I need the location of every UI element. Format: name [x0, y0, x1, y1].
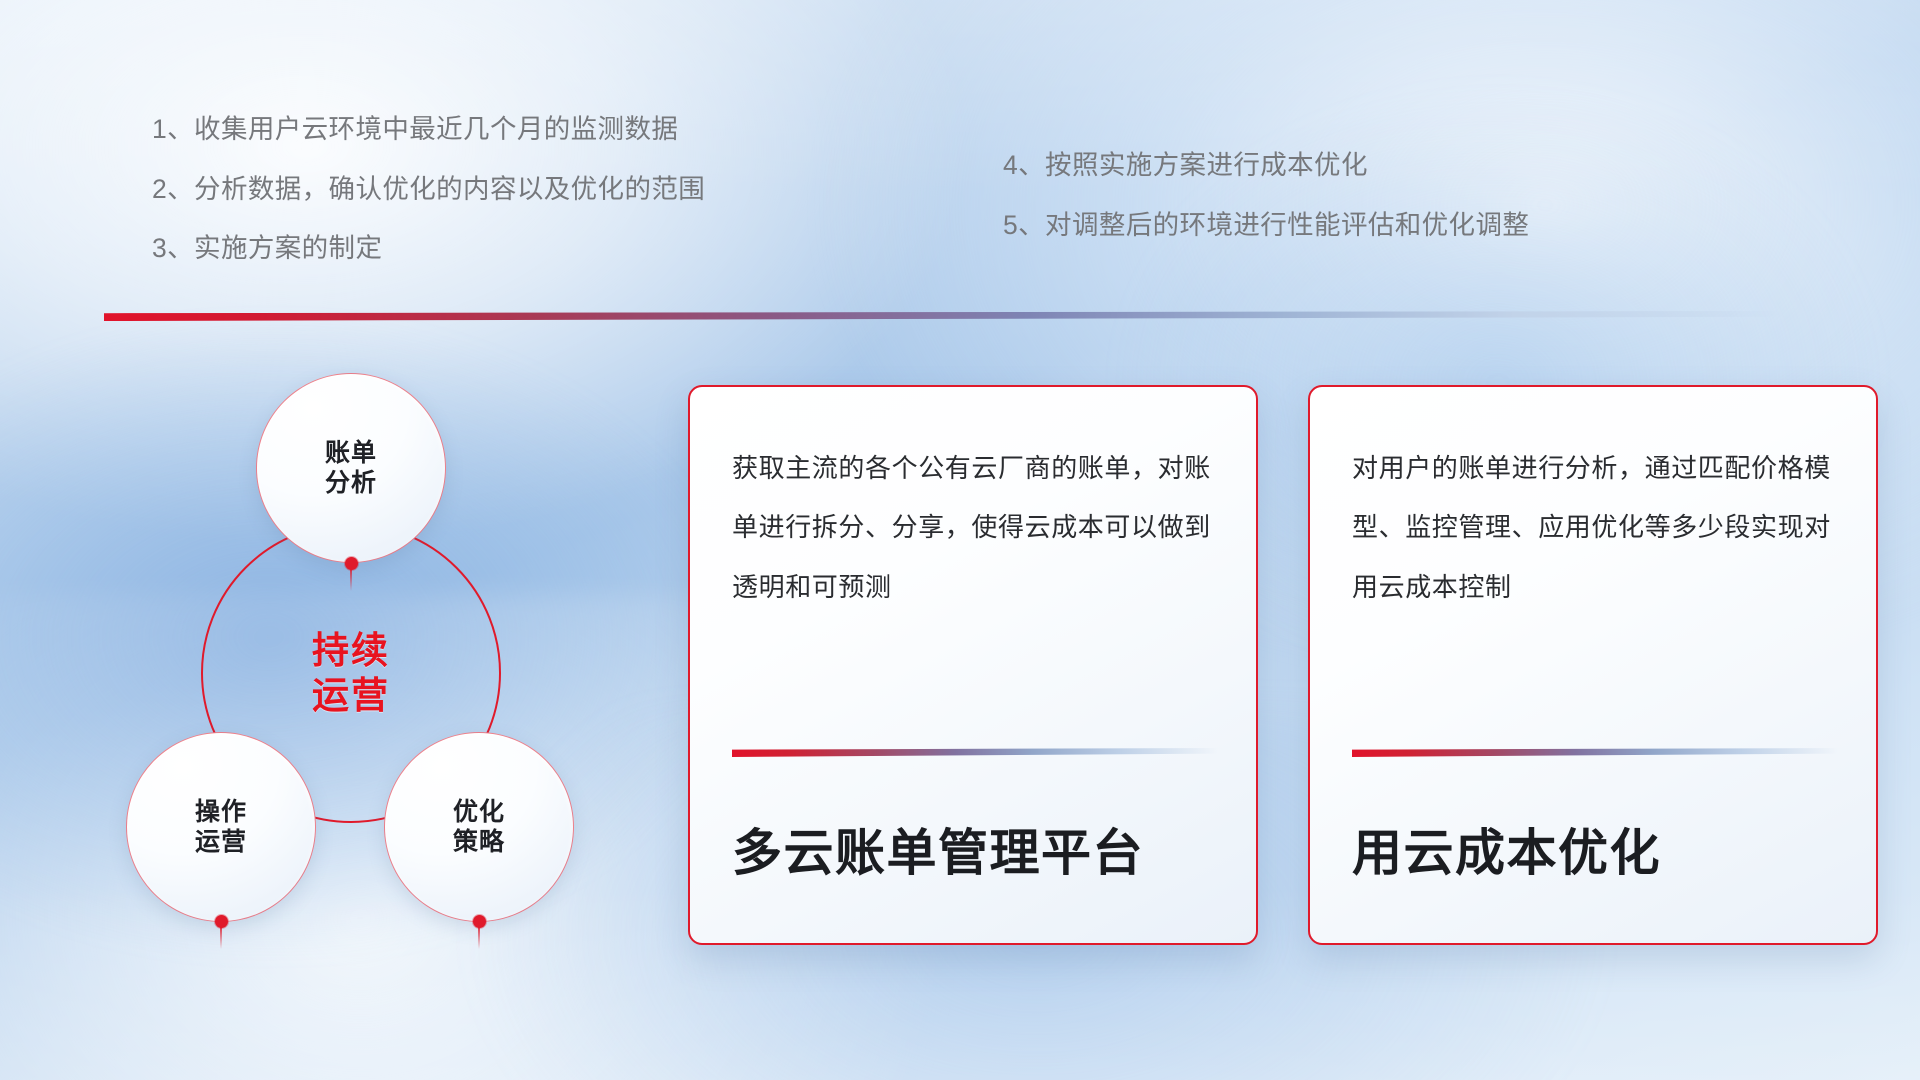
diagram-center-label-line2: 运营	[312, 673, 390, 718]
steps-section: 1、收集用户云环境中最近几个月的监测数据 2、分析数据，确认优化的内容以及优化的…	[0, 0, 1920, 300]
card-cloud-cost-optimization[interactable]: 对用户的账单进行分析，通过匹配价格模型、监控管理、应用优化等多少段实现对用云成本…	[1308, 385, 1878, 945]
card-divider-bar	[732, 748, 1218, 757]
steps-right-column: 4、按照实施方案进行成本优化 5、对调整后的环境进行性能评估和优化调整	[1003, 152, 1529, 238]
card-divider-bar	[1352, 748, 1838, 757]
section-divider-bar	[104, 311, 1784, 321]
node-tail-bottom-left	[220, 927, 222, 949]
node-label-line2: 运营	[195, 827, 247, 858]
step-item: 1、收集用户云环境中最近几个月的监测数据	[152, 116, 705, 143]
step-item: 5、对调整后的环境进行性能评估和优化调整	[1003, 212, 1529, 239]
node-label-line1: 优化	[453, 797, 505, 828]
node-dot-top	[345, 557, 358, 570]
step-item: 3、实施方案的制定	[152, 235, 705, 262]
card-title: 多云账单管理平台	[732, 826, 1218, 881]
cards-section: 获取主流的各个公有云厂商的账单，对账单进行拆分、分享，使得云成本可以做到透明和可…	[688, 385, 1878, 945]
card-title: 用云成本优化	[1352, 826, 1838, 881]
section-divider	[104, 311, 1784, 321]
node-label-line2: 策略	[453, 827, 505, 858]
node-tail-top	[350, 569, 352, 591]
steps-left-column: 1、收集用户云环境中最近几个月的监测数据 2、分析数据，确认优化的内容以及优化的…	[152, 116, 705, 262]
node-dot-bottom-left	[215, 915, 228, 928]
node-dot-bottom-right	[473, 915, 486, 928]
step-item: 4、按照实施方案进行成本优化	[1003, 152, 1529, 179]
diagram-center-label-line1: 持续	[312, 628, 390, 673]
cycle-diagram: 持续 运营 账单 分析 操作 运营 优化 策略	[100, 355, 660, 955]
card-divider	[1352, 748, 1838, 757]
card-body-text: 对用户的账单进行分析，通过匹配价格模型、监控管理、应用优化等多少段实现对用云成本…	[1352, 439, 1834, 617]
card-body-text: 获取主流的各个公有云厂商的账单，对账单进行拆分、分享，使得云成本可以做到透明和可…	[732, 439, 1214, 617]
node-tail-bottom-right	[478, 927, 480, 949]
diagram-node-operations[interactable]: 操作 运营	[126, 732, 316, 922]
card-multicloud-billing[interactable]: 获取主流的各个公有云厂商的账单，对账单进行拆分、分享，使得云成本可以做到透明和可…	[688, 385, 1258, 945]
diagram-node-optimization-strategy[interactable]: 优化 策略	[384, 732, 574, 922]
node-label-line1: 操作	[195, 797, 247, 828]
node-label-line1: 账单	[325, 438, 377, 469]
diagram-node-billing-analysis[interactable]: 账单 分析	[256, 373, 446, 563]
node-label-line2: 分析	[325, 468, 377, 499]
card-divider	[732, 748, 1218, 757]
step-item: 2、分析数据，确认优化的内容以及优化的范围	[152, 176, 705, 203]
